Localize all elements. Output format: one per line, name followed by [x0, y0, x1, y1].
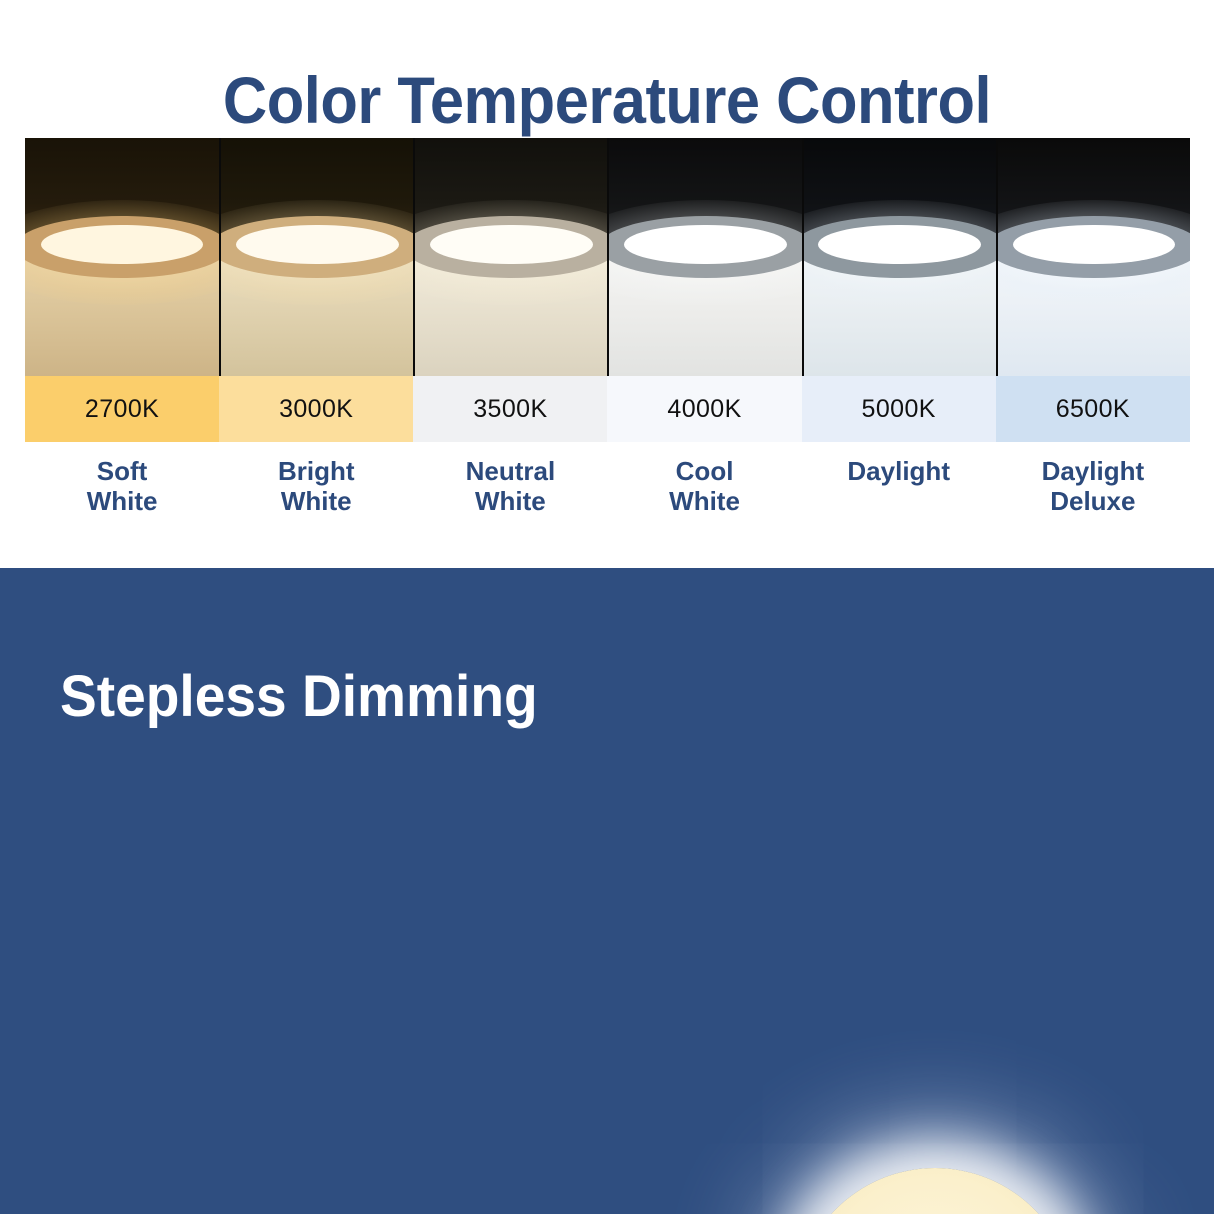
cct-name-label: Daylight [802, 442, 996, 528]
cct-name-label: Soft White [25, 442, 219, 528]
kelvin-badge: 4000K [607, 376, 801, 442]
kelvin-badge: 3500K [413, 376, 607, 442]
infographic-page: Color Temperature Control 2700K Soft Whi… [0, 0, 1214, 1214]
cct-name-label: Bright White [219, 442, 413, 528]
downlight-fixture [607, 216, 801, 278]
page-title: Color Temperature Control [42, 60, 1171, 140]
light-disc [624, 225, 787, 265]
light-disc [236, 225, 399, 265]
cct-photo-3500k [413, 138, 607, 376]
cct-name-label: Cool White [607, 442, 801, 528]
cct-column-2700k[interactable]: 2700K Soft White [25, 138, 219, 528]
kelvin-badge: 3000K [219, 376, 413, 442]
cct-photo-4000k [607, 138, 801, 376]
cct-photo-5000k [802, 138, 996, 376]
cct-name-label: Daylight Deluxe [996, 442, 1190, 528]
kelvin-badge: 5000K [802, 376, 996, 442]
section-title: Stepless Dimming [60, 664, 538, 730]
cct-column-3000k[interactable]: 3000K Bright White [219, 138, 413, 528]
light-disc [41, 225, 204, 265]
cct-name-label: Neutral White [413, 442, 607, 528]
downlight-fixture [25, 216, 219, 278]
downlight-fixture [219, 216, 413, 278]
light-disc [1013, 225, 1176, 265]
kelvin-badge: 6500K [996, 376, 1190, 442]
cct-column-3500k[interactable]: 3500K Neutral White [413, 138, 607, 528]
cct-column-5000k[interactable]: 5000K Daylight [802, 138, 996, 528]
downlight-fixture [996, 216, 1190, 278]
cct-column-6500k[interactable]: 6500K Daylight Deluxe [996, 138, 1190, 528]
color-temperature-section: Color Temperature Control 2700K Soft Whi… [0, 0, 1214, 570]
cct-photo-6500k [996, 138, 1190, 376]
downlight-fixture [413, 216, 607, 278]
light-disc [430, 225, 593, 265]
cct-column-4000k[interactable]: 4000K Cool White [607, 138, 801, 528]
cct-photo-2700k [25, 138, 219, 376]
kelvin-badge: 2700K [25, 376, 219, 442]
cct-photo-3000k [219, 138, 413, 376]
light-disc [818, 225, 981, 265]
glowing-light-orb [795, 1168, 1075, 1214]
downlight-fixture [802, 216, 996, 278]
color-temperature-grid: 2700K Soft White 3000K Bright White [25, 138, 1190, 528]
stepless-dimming-section: Stepless Dimming [0, 568, 1214, 1214]
